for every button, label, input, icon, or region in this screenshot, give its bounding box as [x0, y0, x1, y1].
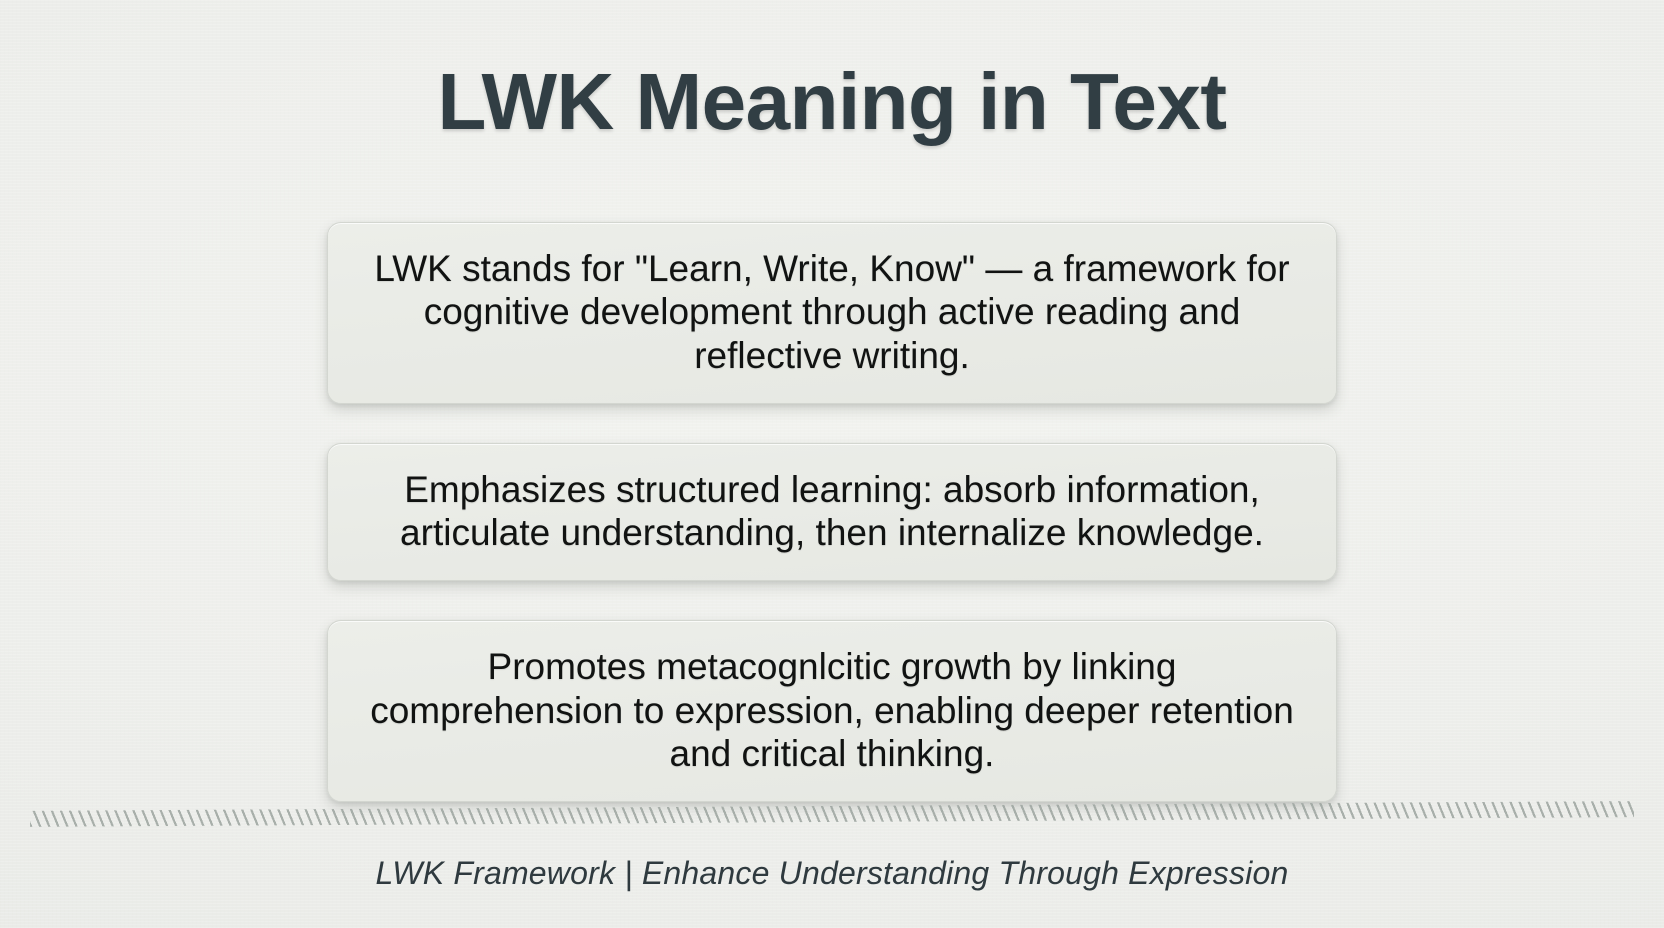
- card-body-text: LWK stands for "Learn, Write, Know" — a …: [366, 247, 1298, 377]
- list-item: LWK stands for "Learn, Write, Know" — a …: [327, 222, 1337, 404]
- list-item: Promotes metacognlcitic growth by linkin…: [327, 620, 1337, 802]
- card-body-text: Emphasizes structured learning: absorb i…: [366, 468, 1298, 555]
- footer-caption: LWK Framework | Enhance Understanding Th…: [0, 855, 1664, 892]
- list-item: Emphasizes structured learning: absorb i…: [327, 443, 1337, 582]
- card-body-text: Promotes metacognlcitic growth by linkin…: [366, 645, 1298, 775]
- card-list: LWK stands for "Learn, Write, Know" — a …: [0, 222, 1664, 841]
- page-title: LWK Meaning in Text: [0, 62, 1664, 142]
- slide-content: LWK Meaning in Text LWK stands for "Lear…: [0, 0, 1664, 928]
